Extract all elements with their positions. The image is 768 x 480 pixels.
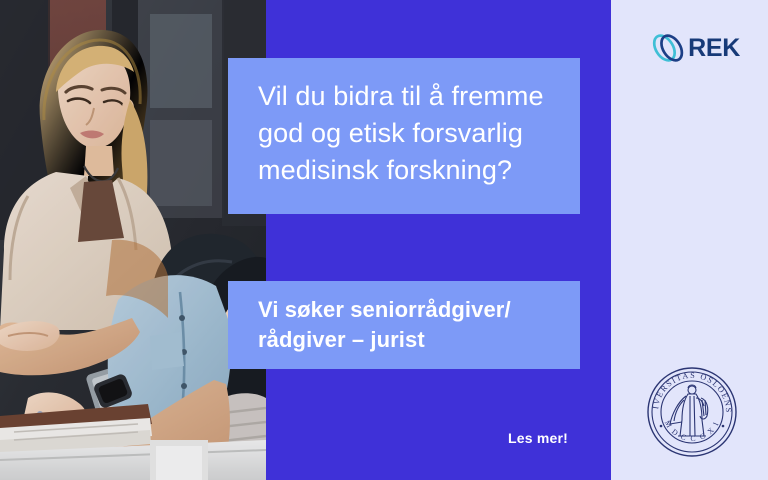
university-of-oslo-seal-icon: UNIVERSITAS OSLOENSIS M D C C C X I [646,366,738,458]
uio-seal: UNIVERSITAS OSLOENSIS M D C C C X I [646,366,738,458]
job-title-text: Vi søker seniorrådgiver/ rådgiver – juri… [258,295,550,355]
rek-logo[interactable]: REK [650,26,740,70]
read-more-link[interactable]: Les mer! [508,430,568,446]
rek-wordmark: REK [688,36,740,61]
team-photo-illustration [0,0,266,480]
recruitment-banner: Vil du bidra til å fremme god og etisk f… [0,0,768,480]
team-photo [0,0,266,480]
headline-card: Vil du bidra til å fremme god og etisk f… [228,58,580,214]
job-title-card: Vi søker seniorrådgiver/ rådgiver – juri… [228,281,580,369]
headline-text: Vil du bidra til å fremme god og etisk f… [258,78,550,189]
svg-text:M D C C C X I: M D C C C X I [663,419,721,443]
rek-interlocking-rings-icon [650,27,686,69]
